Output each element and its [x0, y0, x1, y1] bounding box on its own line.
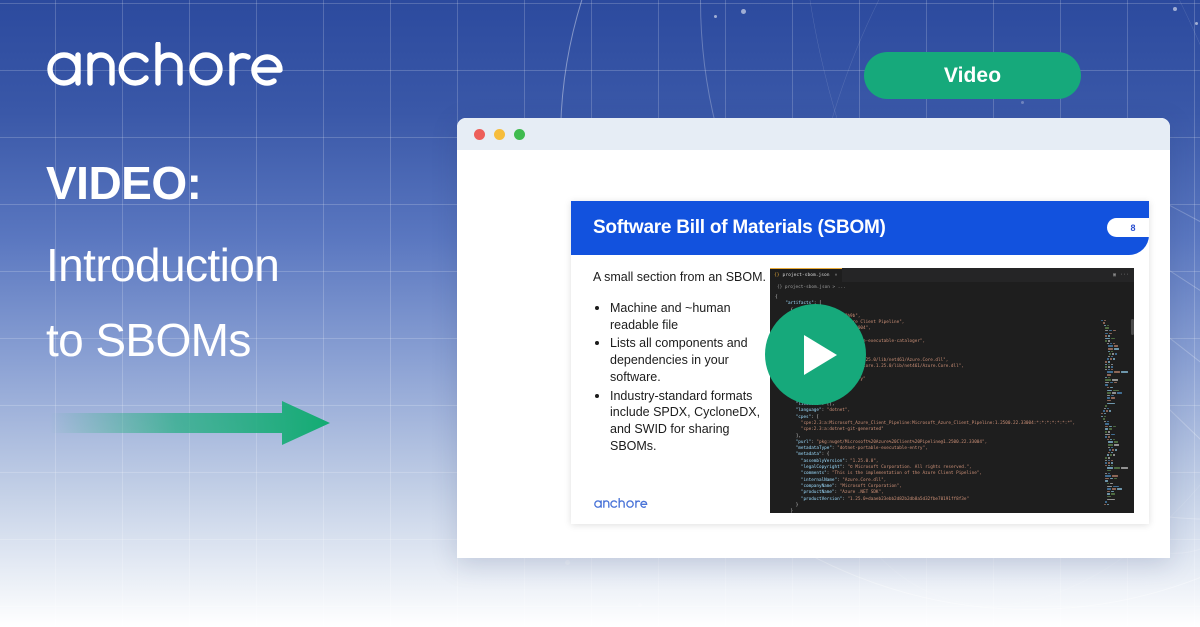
close-icon[interactable]: ×	[835, 273, 838, 278]
code-line: }	[775, 509, 1134, 513]
slide-page-number: 8	[1107, 218, 1149, 237]
browser-titlebar	[457, 118, 1170, 150]
list-item: Machine and ~human readable file	[610, 299, 773, 334]
minimize-window-icon[interactable]	[494, 129, 505, 140]
page-kicker: VIDEO:	[46, 160, 201, 206]
page-title: Introduction to SBOMs	[46, 228, 446, 377]
editor-tab-bar: {} project-sbom.json × ▣ ···	[770, 268, 1134, 282]
json-file-icon: {}	[774, 273, 780, 278]
editor-tab-actions: ▣ ···	[1113, 272, 1134, 278]
editor-minimap[interactable]	[1101, 319, 1131, 511]
more-actions-icon[interactable]: ···	[1120, 272, 1129, 278]
background-dot	[714, 15, 717, 18]
video-badge: Video	[864, 52, 1081, 99]
background-dot	[638, 603, 642, 607]
anchore-logo	[46, 42, 286, 104]
slide-anchore-logo	[593, 498, 649, 512]
editor-breadcrumb[interactable]: {} project-sbom.json > ...	[770, 282, 1134, 293]
background-dot	[1173, 7, 1177, 11]
slide-title: Software Bill of Materials (SBOM)	[593, 217, 886, 239]
page-title-line-1: Introduction	[46, 228, 446, 303]
split-editor-icon[interactable]: ▣	[1113, 272, 1116, 278]
editor-tab-project-sbom-json[interactable]: {} project-sbom.json ×	[770, 268, 842, 282]
slide-body: A small section from an SBOM. Machine an…	[571, 255, 1149, 524]
slide-bullet-list: Machine and ~human readable file Lists a…	[593, 299, 773, 455]
slide-header: Software Bill of Materials (SBOM) 8	[571, 201, 1149, 255]
page-title-line-2: to SBOMs	[46, 303, 446, 378]
background-dot	[1195, 22, 1198, 25]
slide-lead-text: A small section from an SBOM.	[593, 269, 768, 286]
editor-tab-label: project-sbom.json	[783, 273, 830, 278]
maximize-window-icon[interactable]	[514, 129, 525, 140]
left-hero-panel: VIDEO: Introduction to SBOMs	[0, 0, 460, 627]
list-item: Lists all components and dependencies in…	[610, 334, 773, 385]
play-button[interactable]	[765, 304, 866, 405]
minimap-row	[1101, 503, 1131, 506]
editor-scrollbar[interactable]	[1131, 319, 1134, 335]
list-item: Industry-standard formats include SPDX, …	[610, 387, 773, 455]
play-triangle-icon	[804, 335, 837, 375]
close-window-icon[interactable]	[474, 129, 485, 140]
arrow-right-icon	[50, 400, 330, 446]
background-dot	[741, 9, 746, 14]
background-dot	[1021, 101, 1024, 104]
